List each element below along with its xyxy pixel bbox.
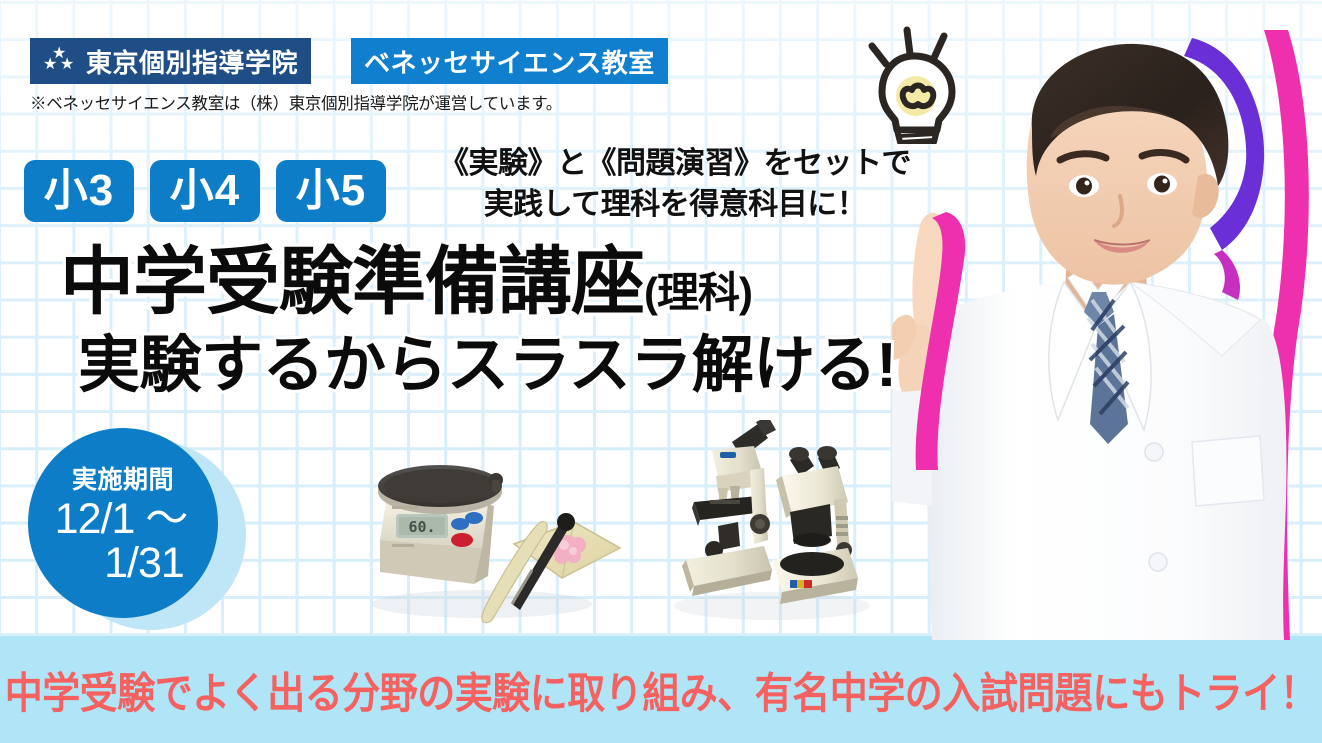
headline-main-text: 中学受験準備講座 — [60, 240, 644, 323]
tagline: 《実験》と《問題演習》をセットで 実践して理科を得意科目に！ — [425, 143, 925, 226]
date-badge-label: 実施期間 — [72, 460, 174, 496]
logo-row: ★ ★ ★ 東京個別指導学院 ベネッセサイエンス教室 — [30, 38, 668, 84]
date-badge-circle: 実施期間 12/1 ～ 1/31 — [28, 428, 218, 618]
grade-badge-1: 小3 — [24, 160, 134, 222]
bottom-banner: 中学受験でよく出る分野の実験に取り組み、有名中学の入試問題にもトライ！ — [0, 636, 1322, 743]
star-icon: ★ — [43, 57, 58, 73]
lightbulb-icon — [852, 12, 984, 144]
microscopes-photo — [672, 420, 877, 625]
three-star-icon: ★ ★ ★ — [43, 46, 77, 76]
tagline-line-2: 実践して理科を得意科目に！ — [425, 184, 925, 225]
date-badge-end: 1/31 — [104, 542, 184, 586]
grade-badge-row: 小3 小4 小5 — [24, 160, 386, 222]
date-badge: 実施期間 12/1 ～ 1/31 — [28, 428, 278, 624]
headline-line-2: 実験するからスラスラ解ける! — [78, 333, 896, 400]
star-icon: ★ — [60, 57, 75, 73]
logo-secondary-text: ベネッセサイエンス教室 — [364, 43, 655, 80]
headline: 中学受験準備講座(理科) 実験するからスラスラ解ける! — [60, 243, 896, 400]
tagline-line-1: 《実験》と《問題演習》をセットで — [425, 143, 925, 184]
logo-benesse-science: ベネッセサイエンス教室 — [351, 38, 668, 84]
logo-primary-text: 東京個別指導学院 — [86, 43, 298, 80]
headline-line-1: 中学受験準備講座(理科) — [60, 243, 896, 321]
disclaimer-text: ※ベネッセサイエンス教室は（株）東京個別指導学院が運営しています。 — [30, 90, 562, 114]
grade-badge-2: 小4 — [150, 160, 260, 222]
bottom-banner-text: 中学受験でよく出る分野の実験に取り組み、有名中学の入試問題にもトライ！ — [5, 659, 1318, 721]
headline-subject-text: (理科) — [644, 269, 752, 316]
logo-tokyo-kobetsu: ★ ★ ★ 東京個別指導学院 — [30, 38, 311, 84]
date-badge-start: 12/1 ～ — [55, 498, 188, 542]
svg-text:60.: 60. — [408, 518, 435, 536]
grade-badge-3: 小5 — [276, 160, 386, 222]
promotional-banner: ★ ★ ★ 東京個別指導学院 ベネッセサイエンス教室 ※ベネッセサイエンス教室は… — [0, 0, 1322, 743]
digital-balance-photo: 60. — [362, 444, 624, 624]
